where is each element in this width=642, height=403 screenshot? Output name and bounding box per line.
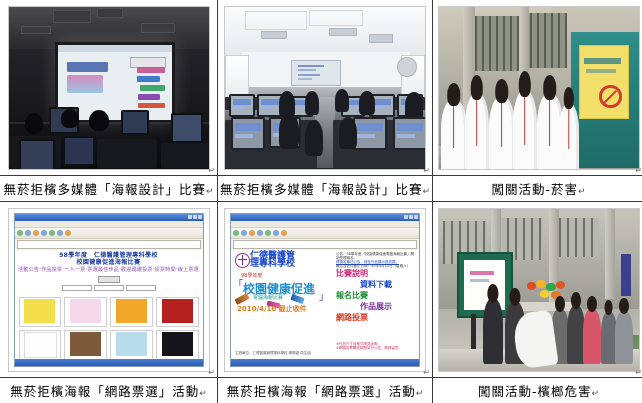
footer-note: 主辦單位：仁德醫護管理專科學校 學務處 衛生組 (235, 351, 311, 356)
gallery-subheading: 活動公告‧作品投票‧一人一票‧票選最佳作品‧歡迎踴躍投票‧投票時間‧線上票選 (15, 267, 203, 274)
photo-row-1: ↵ (0, 0, 642, 176)
no-smoking-poster (579, 45, 629, 118)
poster-thumbnail[interactable] (156, 330, 199, 359)
browser-window: 98學年度 仁德醫護管理專科學校 校園健康促進海報比賽 活動公告‧作品投票‧一人… (14, 213, 204, 367)
paragraph-mark: ↵ (416, 389, 424, 399)
deadline-text: 2010/4/10 截止收件 (237, 304, 307, 314)
caption-text: 無菸拒檳多媒體「海報設計」比賽 (3, 182, 206, 197)
caption-r1c2: 無菸拒檳多媒體「海報設計」比賽↵ (218, 179, 432, 198)
photo-outdoor-booth-betelnut-activity (438, 208, 640, 372)
title-prefix: 98學年度 (241, 272, 262, 279)
site-navigation: 比賽說明 資料下載 報名比賽 作品展示 網路投票 (336, 268, 416, 323)
school-name-line2: 理專科學校 (250, 260, 295, 268)
screenshot-competition-homepage: 仁德醫護管 理專科學校 「 」 98學年度 校園健康促進 電腦海報比賽 (224, 208, 426, 372)
notice-line: 公告：98學年度「校園健康促進電腦海報比賽」開始受理報名。 (336, 252, 416, 260)
poster-thumbnail[interactable] (110, 297, 153, 327)
title-sub: 電腦海報比賽 (253, 294, 283, 301)
nav-item-vote[interactable]: 網路投票 (336, 312, 416, 323)
browser-menubar (15, 221, 203, 228)
poster-thumbnail[interactable] (64, 297, 107, 327)
nav-item-gallery[interactable]: 作品展示 (336, 301, 416, 312)
photo-cell-r1c1: ↵ (0, 0, 218, 176)
paragraph-mark: ↵ (423, 369, 430, 377)
photo-row-2: 98學年度 仁德醫護管理專科學校 校園健康促進海報比賽 活動公告‧作品投票‧一人… (0, 202, 642, 378)
paragraph-mark: ↵ (423, 167, 430, 175)
school-logo-icon (235, 253, 250, 268)
poster-thumbnail[interactable] (19, 330, 62, 359)
title-artwork: 「 」 98學年度 校園健康促進 電腦海報比賽 2010/4/10 截止收件 (233, 270, 331, 318)
vertical-banner (621, 254, 631, 296)
caption-text: 無菸拒檳海報「網路票選」活動 (227, 384, 416, 399)
page-content: 仁德醫護管 理專科學校 「 」 98學年度 校園健康促進 電腦海報比賽 (231, 250, 419, 359)
browser-statusbar (231, 359, 419, 366)
caption-cell-r2c2: 無菸拒檳海報「網路票選」活動↵ (218, 378, 433, 403)
address-bar[interactable] (233, 240, 417, 249)
paragraph-mark: ↵ (635, 167, 642, 175)
browser-toolbar[interactable] (231, 228, 419, 239)
poster-thumbnail[interactable] (156, 297, 199, 327)
photo-dark-computer-classroom-projection (8, 6, 210, 170)
paragraph-mark: ↵ (422, 187, 430, 197)
caption-r2c3: 闖關活動-檳榔危害↵ (433, 381, 642, 400)
caption-r1c3: 闖關活動-菸害↵ (433, 179, 642, 198)
browser-statusbar (15, 359, 203, 366)
nav-item-register[interactable]: 報名比賽 (336, 290, 416, 301)
school-name: 仁德醫護管 理專科學校 (250, 252, 295, 268)
vote-button[interactable] (98, 276, 120, 283)
photo-grid-table: ↵ (0, 0, 642, 403)
poster-thumbnail[interactable] (64, 330, 107, 359)
nav-item-rules[interactable]: 比賽說明 (336, 268, 416, 279)
paragraph-mark: ↵ (208, 369, 215, 377)
photo-cell-r2c2: 仁德醫護管 理專科學校 「 」 98學年度 校園健康促進 電腦海報比賽 (218, 202, 433, 378)
gallery-heading-line2: 校園健康促進海報比賽 (15, 259, 203, 266)
address-bar[interactable] (17, 240, 201, 249)
caption-text: 闖關活動-檳榔危害 (478, 384, 592, 399)
caption-cell-r2c3: 闖關活動-檳榔危害↵ (433, 378, 642, 403)
caption-r1c1: 無菸拒檳多媒體「海報設計」比賽↵ (0, 179, 217, 198)
tail-notes: ※作品尺寸及格式請見說明。 ※網路投票開放時間另行公告，敬請留意。 (336, 342, 416, 351)
poster-thumbnail-grid (19, 297, 199, 359)
paragraph-mark: ↵ (206, 187, 214, 197)
caption-row-2: 無菸拒檳海報「網路票選」活動↵ 無菸拒檳海報「網路票選」活動↵ 闖關活動-檳榔危… (0, 378, 642, 403)
photo-cell-r1c3: ↵ (433, 0, 642, 176)
paragraph-mark: ↵ (199, 389, 207, 399)
photo-students-queue-no-smoking-poster (438, 6, 640, 170)
nav-item-downloads[interactable]: 資料下載 (336, 279, 416, 290)
photo-cell-r2c3: ↵ (433, 202, 642, 378)
caption-r2c1: 無菸拒檳海報「網路票選」活動↵ (0, 381, 217, 400)
tail-line: ※網路投票開放時間另行公告，敬請留意。 (336, 346, 416, 351)
photo-cell-r2c1: 98學年度 仁德醫護管理專科學校 校園健康促進海報比賽 活動公告‧作品投票‧一人… (0, 202, 218, 378)
browser-window: 仁德醫護管 理專科學校 「 」 98學年度 校園健康促進 電腦海報比賽 (230, 213, 420, 367)
projection-screen (291, 60, 341, 86)
no-smoking-icon (599, 85, 621, 107)
page-content: 98學年度 仁德醫護管理專科學校 校園健康促進海報比賽 活動公告‧作品投票‧一人… (15, 250, 203, 359)
browser-titlebar (231, 214, 419, 221)
screenshot-poster-gallery-webpage: 98學年度 仁德醫護管理專科學校 校園健康促進海報比賽 活動公告‧作品投票‧一人… (8, 208, 210, 372)
caption-cell-r2c1: 無菸拒檳海報「網路票選」活動↵ (0, 378, 218, 403)
caption-r2c2: 無菸拒檳海報「網路票選」活動↵ (218, 381, 432, 400)
caption-cell-r1c3: 闖關活動-菸害↵ (433, 176, 642, 202)
poster-thumbnail[interactable] (110, 330, 153, 359)
caption-row-1: 無菸拒檳多媒體「海報設計」比賽↵ 無菸拒檳多媒體「海報設計」比賽↵ 闖關活動-菸… (0, 176, 642, 202)
paragraph-mark: ↵ (578, 187, 586, 197)
caption-cell-r1c1: 無菸拒檳多媒體「海報設計」比賽↵ (0, 176, 218, 202)
browser-menubar (231, 221, 419, 228)
colour-balls (527, 280, 571, 303)
gallery-heading-line1: 98學年度 仁德醫護管理專科學校 (15, 252, 203, 259)
browser-titlebar (15, 214, 203, 221)
filter-form[interactable] (15, 285, 203, 291)
photo-bright-computer-lab (224, 6, 426, 170)
browser-toolbar[interactable] (15, 228, 203, 239)
paragraph-mark: ↵ (591, 389, 599, 399)
paragraph-mark: ↵ (208, 167, 215, 175)
caption-text: 闖關活動-菸害 (491, 182, 578, 197)
caption-text: 無菸拒檳多媒體「海報設計」比賽 (220, 182, 423, 197)
caption-text: 無菸拒檳海報「網路票選」活動 (10, 384, 199, 399)
paragraph-mark: ↵ (635, 369, 642, 377)
photo-cell-r1c2: ↵ (218, 0, 433, 176)
caption-cell-r1c2: 無菸拒檳多媒體「海報設計」比賽↵ (218, 176, 433, 202)
poster-thumbnail[interactable] (19, 297, 62, 327)
